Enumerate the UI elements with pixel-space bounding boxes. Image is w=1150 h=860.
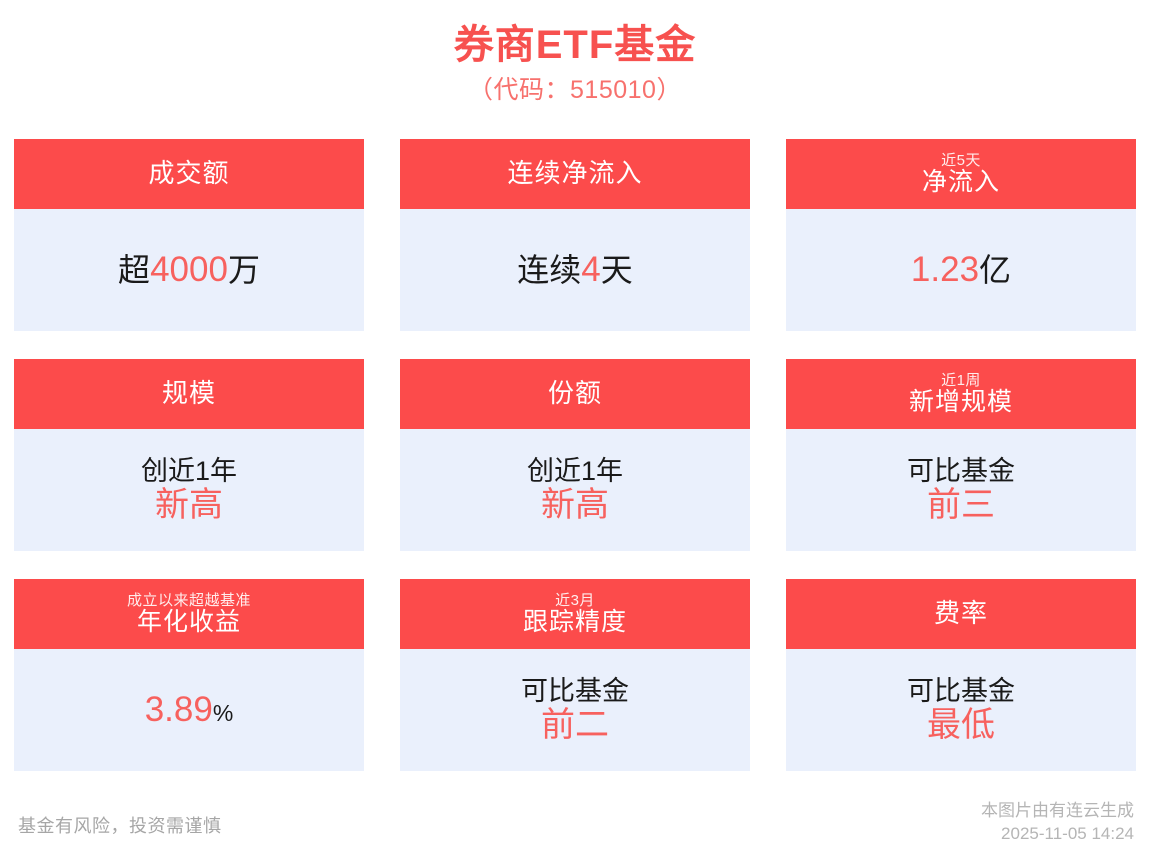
- metric-card: 费率可比基金最低: [786, 579, 1136, 771]
- metric-value-context: 可比基金: [907, 456, 1015, 486]
- metric-value-number: 3.89: [145, 690, 213, 729]
- metric-card-eyebrow: 近3月: [555, 593, 595, 609]
- metric-card: 近3月跟踪精度可比基金前二: [400, 579, 750, 771]
- metric-value-number: 4000: [150, 250, 228, 289]
- metric-card-title: 连续净流入: [507, 160, 642, 187]
- metric-card-eyebrow: 近5天: [941, 153, 981, 169]
- metric-card-body: 可比基金最低: [786, 649, 1136, 771]
- metric-card: 成交额超4000万: [14, 139, 364, 331]
- metric-value-prefix: 超: [118, 252, 150, 288]
- metric-card-header: 近5天净流入: [786, 139, 1136, 209]
- title-block: 券商ETF基金 （代码：515010）: [0, 0, 1150, 107]
- metric-value: 1.23亿: [911, 250, 1011, 289]
- metric-card-title: 净流入: [922, 169, 1000, 195]
- metric-card-title: 费率: [934, 600, 988, 627]
- metric-value-number: 4: [581, 250, 600, 289]
- metric-card-header: 成立以来超越基准年化收益: [14, 579, 364, 649]
- metric-value-unit: %: [213, 700, 233, 726]
- metric-card-title: 年化收益: [137, 609, 241, 635]
- infographic-page: 券商ETF基金 （代码：515010） 成交额超4000万连续净流入连续4天近5…: [0, 0, 1150, 860]
- metric-card-header: 成交额: [14, 139, 364, 209]
- metric-value-number: 1.23: [911, 250, 979, 289]
- metric-card-body: 可比基金前三: [786, 429, 1136, 551]
- metric-value-unit: 亿: [979, 252, 1011, 288]
- metric-card: 规模创近1年新高: [14, 359, 364, 551]
- metric-value-highlight: 前三: [927, 486, 995, 524]
- metric-card-body: 可比基金前二: [400, 649, 750, 771]
- page-title: 券商ETF基金: [0, 22, 1150, 68]
- metric-card-title: 规模: [162, 380, 216, 407]
- metric-card-header: 费率: [786, 579, 1136, 649]
- metric-card-title: 份额: [548, 380, 602, 407]
- generation-info: 本图片由有连云生成 2025-11-05 14:24: [981, 800, 1134, 846]
- metric-value-highlight: 前二: [541, 706, 609, 744]
- metric-card-grid: 成交额超4000万连续净流入连续4天近5天净流入1.23亿规模创近1年新高份额创…: [14, 139, 1136, 771]
- metric-card-title: 跟踪精度: [523, 609, 627, 635]
- metric-value-context: 可比基金: [907, 676, 1015, 706]
- metric-card-header: 近3月跟踪精度: [400, 579, 750, 649]
- generation-timestamp: 2025-11-05 14:24: [981, 823, 1134, 846]
- metric-value-context: 创近1年: [527, 456, 623, 486]
- metric-card-body: 3.89%: [14, 649, 364, 771]
- metric-value-highlight: 新高: [155, 486, 223, 524]
- metric-card-eyebrow: 近1周: [941, 373, 981, 389]
- metric-card-header: 连续净流入: [400, 139, 750, 209]
- metric-value: 超4000万: [118, 250, 260, 289]
- metric-card-body: 创近1年新高: [14, 429, 364, 551]
- risk-disclaimer: 基金有风险，投资需谨慎: [18, 812, 222, 838]
- metric-card-eyebrow: 成立以来超越基准: [127, 593, 251, 609]
- metric-value-prefix: 连续: [517, 252, 581, 288]
- metric-value: 3.89%: [145, 690, 234, 729]
- metric-value-context: 可比基金: [521, 676, 629, 706]
- metric-card-title: 新增规模: [909, 389, 1013, 415]
- metric-card-body: 连续4天: [400, 209, 750, 331]
- metric-value: 连续4天: [517, 250, 633, 289]
- metric-value-highlight: 最低: [927, 706, 995, 744]
- metric-card-header: 份额: [400, 359, 750, 429]
- metric-card-header: 近1周新增规模: [786, 359, 1136, 429]
- generation-source: 本图片由有连云生成: [981, 800, 1134, 823]
- metric-value-unit: 万: [228, 252, 260, 288]
- metric-value-unit: 天: [601, 252, 633, 288]
- metric-card-body: 超4000万: [14, 209, 364, 331]
- metric-value-highlight: 新高: [541, 486, 609, 524]
- metric-card-header: 规模: [14, 359, 364, 429]
- metric-card-body: 1.23亿: [786, 209, 1136, 331]
- metric-card: 近1周新增规模可比基金前三: [786, 359, 1136, 551]
- fund-code-subtitle: （代码：515010）: [0, 74, 1150, 107]
- metric-card: 份额创近1年新高: [400, 359, 750, 551]
- metric-card-title: 成交额: [148, 160, 229, 187]
- metric-card: 成立以来超越基准年化收益3.89%: [14, 579, 364, 771]
- footer: 基金有风险，投资需谨慎 本图片由有连云生成 2025-11-05 14:24: [0, 790, 1150, 860]
- metric-card-body: 创近1年新高: [400, 429, 750, 551]
- metric-value-context: 创近1年: [141, 456, 237, 486]
- metric-card: 近5天净流入1.23亿: [786, 139, 1136, 331]
- metric-card: 连续净流入连续4天: [400, 139, 750, 331]
